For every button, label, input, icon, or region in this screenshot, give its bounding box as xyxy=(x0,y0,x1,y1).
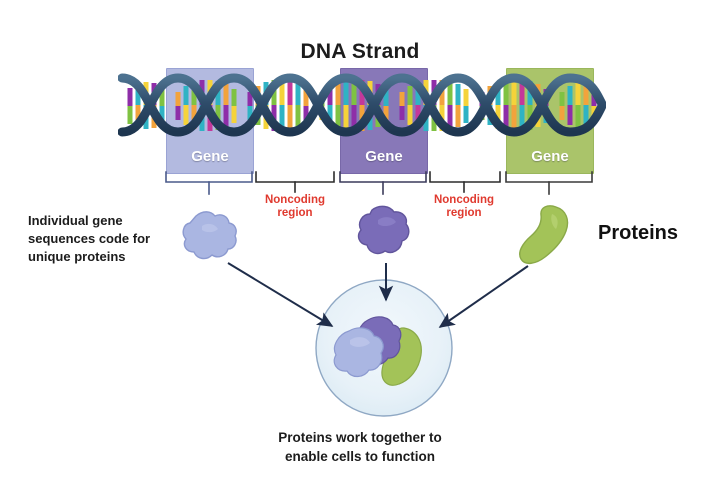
bottom-caption-line-1: Proteins work together to xyxy=(0,428,720,447)
bottom-caption: Proteins work together to enable cells t… xyxy=(0,428,720,466)
bottom-caption-line-2: enable cells to function xyxy=(0,447,720,466)
arrow-left xyxy=(228,263,332,326)
protein-blue xyxy=(183,212,236,259)
protein-purple xyxy=(359,206,409,253)
protein-green xyxy=(520,206,568,263)
arrow-right xyxy=(440,266,528,327)
diagram-canvas: DNA Strand Gene Gene Gene xyxy=(0,0,720,503)
